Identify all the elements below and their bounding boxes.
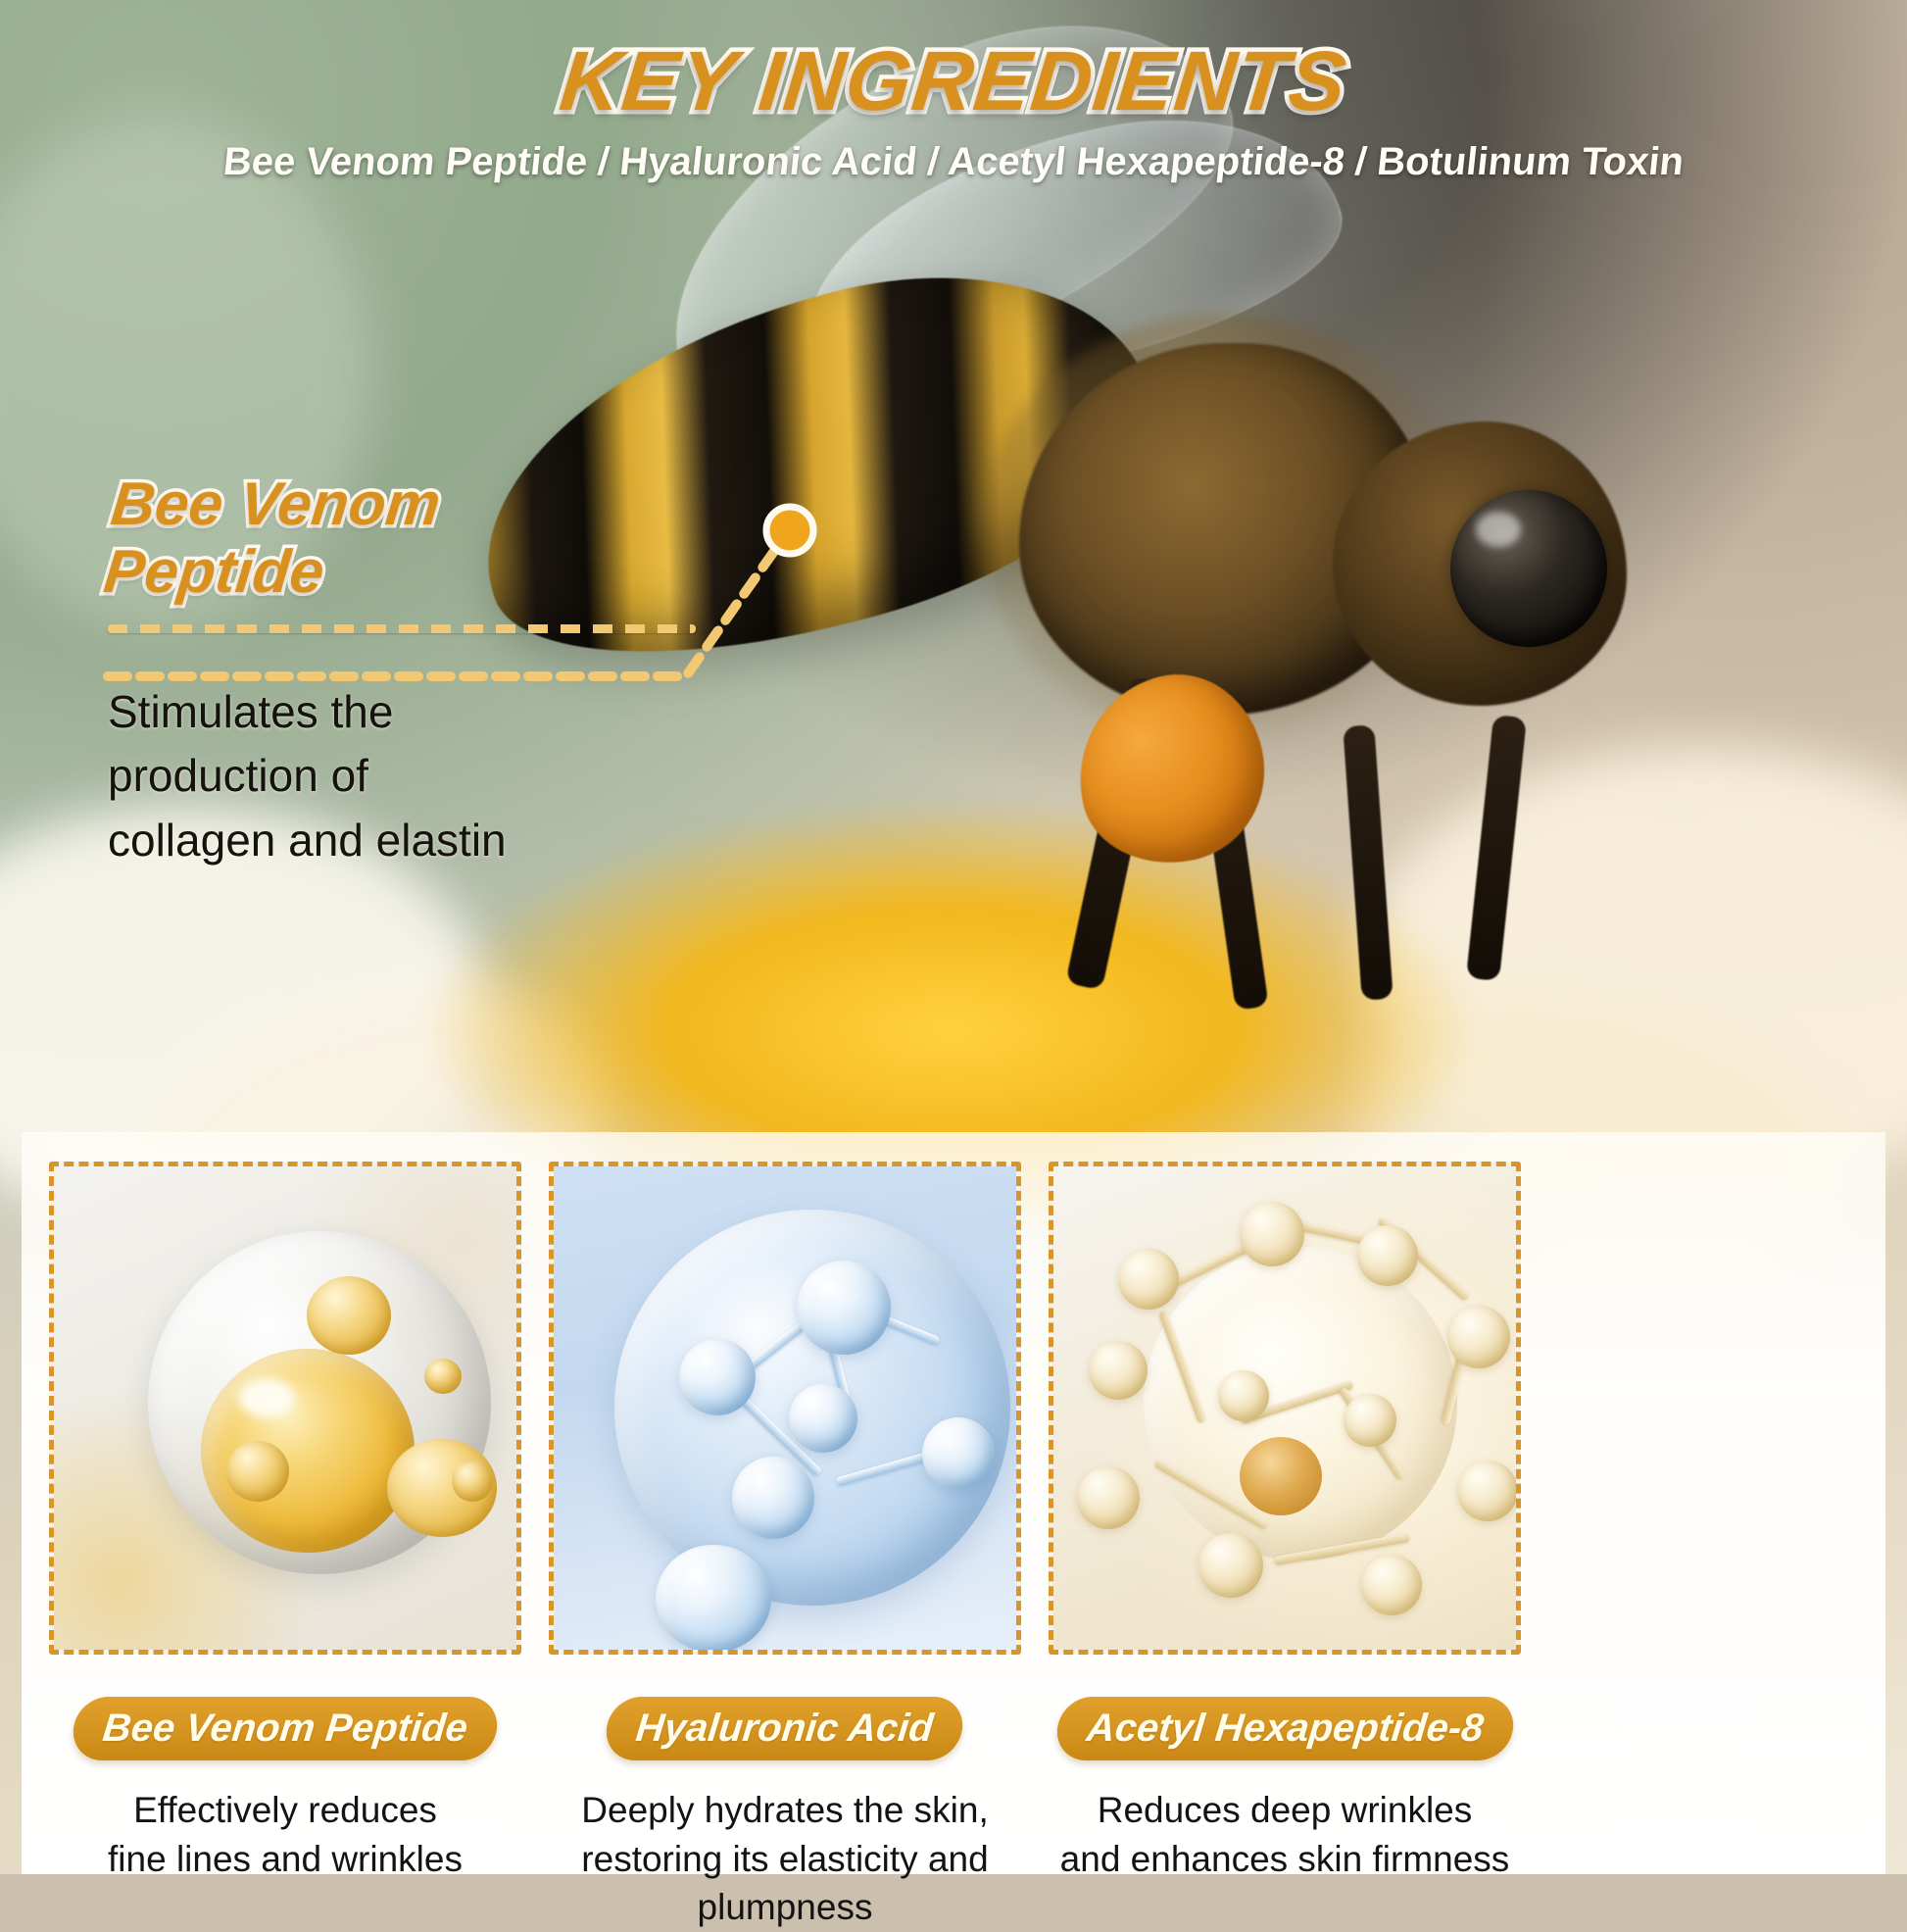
page-subtitle: Bee Venom Peptide / Hyaluronic Acid / Ac… [0, 140, 1907, 184]
amber-core [1240, 1437, 1322, 1515]
ingredient-description-acetyl-hexapeptide-8: Reduces deep wrinkles and enhances skin … [1060, 1786, 1510, 1883]
callout-dashed-rule [108, 624, 696, 633]
header: KEY INGREDIENTS Bee Venom Peptide / Hyal… [0, 33, 1907, 184]
ingredient-description-hyaluronic-acid: Deeply hydrates the skin, restoring its … [549, 1786, 1021, 1932]
oil-bubble [307, 1276, 391, 1355]
molecule-atom [679, 1339, 756, 1415]
ingredient-card-bee-venom-peptide[interactable] [49, 1162, 521, 1655]
molecule-atom [922, 1417, 995, 1490]
cage-node [1218, 1370, 1269, 1421]
cage-node [1240, 1202, 1304, 1266]
cage-node [1357, 1225, 1418, 1286]
cage-node [1118, 1249, 1179, 1310]
pill-label: Bee Venom Peptide [101, 1707, 470, 1751]
ingredient-card-hyaluronic-acid[interactable] [549, 1162, 1021, 1655]
cage-node [1361, 1555, 1422, 1615]
ingredient-card-acetyl-hexapeptide-8[interactable] [1049, 1162, 1521, 1655]
page-title: KEY INGREDIENTS [556, 33, 1351, 130]
bee-venom-callout: Bee Venom Peptide Stimulates the product… [108, 471, 715, 872]
cage-node [1447, 1306, 1510, 1368]
water-molecule-image [554, 1166, 1016, 1650]
cage-node [1089, 1341, 1148, 1400]
bee-leg [1343, 724, 1393, 1001]
molecule-atom [797, 1261, 891, 1355]
pill-label: Hyaluronic Acid [634, 1707, 936, 1751]
callout-title-line-2: Peptide [101, 538, 715, 606]
molecule-atom [656, 1545, 771, 1653]
ingredient-pill-hyaluronic-acid[interactable]: Hyaluronic Acid [604, 1697, 966, 1760]
callout-title: Bee Venom Peptide [101, 471, 723, 607]
gold-molecule-image [1053, 1166, 1516, 1650]
cage-node [1198, 1533, 1263, 1598]
cage-node [1344, 1394, 1396, 1447]
label-column-acetyl-hexapeptide-8: Acetyl Hexapeptide-8 Reduces deep wrinkl… [1049, 1697, 1521, 1932]
label-column-hyaluronic-acid: Hyaluronic Acid Deeply hydrates the skin… [549, 1697, 1021, 1932]
oil-bubble [424, 1359, 462, 1394]
oil-bubble [226, 1441, 289, 1502]
ingredient-cards [22, 1162, 1885, 1655]
ingredient-pill-acetyl-hexapeptide-8[interactable]: Acetyl Hexapeptide-8 [1053, 1697, 1515, 1760]
molecule-atom [732, 1457, 814, 1539]
ingredient-description-bee-venom-peptide: Effectively reduces fine lines and wrink… [108, 1786, 463, 1883]
bee-leg [1466, 715, 1527, 981]
pill-label: Acetyl Hexapeptide-8 [1084, 1707, 1485, 1751]
oil-droplet-image [54, 1166, 516, 1650]
oil-bubble [452, 1461, 493, 1502]
ingredients-panel: Bee Venom Peptide Effectively reduces fi… [22, 1132, 1885, 1874]
cage-node [1457, 1461, 1518, 1521]
cage-node [1077, 1466, 1140, 1529]
label-column-bee-venom-peptide: Bee Venom Peptide Effectively reduces fi… [49, 1697, 521, 1932]
ingredient-pill-bee-venom-peptide[interactable]: Bee Venom Peptide [71, 1697, 501, 1760]
molecule-atom [789, 1384, 857, 1453]
ingredient-labels: Bee Venom Peptide Effectively reduces fi… [22, 1697, 1885, 1932]
callout-description: Stimulates the production of collagen an… [108, 680, 715, 872]
callout-title-line-1: Bee Venom [108, 471, 722, 538]
bee-eye [1450, 490, 1607, 647]
